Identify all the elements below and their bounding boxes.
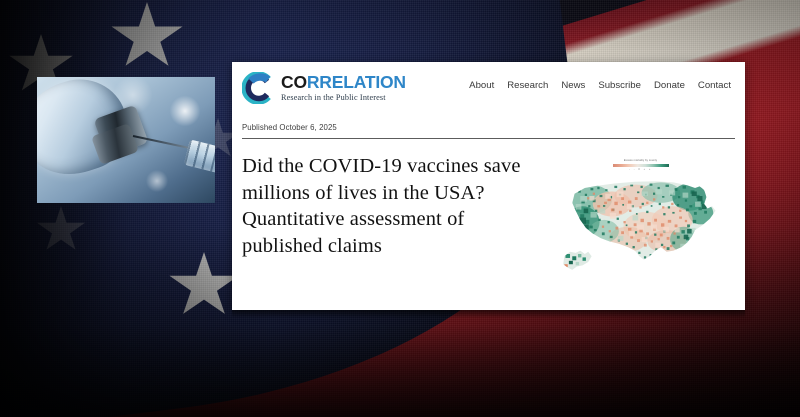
map-legend: Excess mortality by county - - 0 + + (604, 159, 678, 171)
us-county-choropleth-map (542, 171, 739, 279)
article-card: CORRELATION Research in the Public Inter… (232, 62, 745, 310)
article-headline: Did the COVID-19 vaccines save millions … (242, 153, 542, 260)
published-date: Published October 6, 2025 (242, 123, 337, 132)
nav-item-about[interactable]: About (469, 80, 494, 91)
nav-item-research[interactable]: Research (507, 80, 548, 91)
site-header: CORRELATION Research in the Public Inter… (232, 62, 745, 104)
map-legend-title: Excess mortality by county (604, 159, 678, 163)
site-name-block: CORRELATION Research in the Public Inter… (281, 74, 406, 103)
nav-item-contact[interactable]: Contact (698, 80, 731, 91)
wordmark-co: CO (281, 72, 307, 92)
site-tagline: Research in the Public Interest (281, 93, 406, 102)
vaccine-vial-photo (37, 77, 215, 203)
screenshot-stage: CORRELATION Research in the Public Inter… (0, 0, 800, 417)
site-logo[interactable]: CORRELATION Research in the Public Inter… (242, 72, 406, 104)
nav-item-news[interactable]: News (561, 80, 585, 91)
site-wordmark: CORRELATION (281, 74, 406, 92)
nav-item-subscribe[interactable]: Subscribe (598, 80, 641, 91)
wordmark-rrelation: RRELATION (307, 72, 406, 92)
published-date-row: Published October 6, 2025 (242, 117, 735, 139)
correlation-c-logo-icon (242, 72, 274, 104)
main-navigation: About Research News Subscribe Donate Con… (469, 80, 733, 91)
nav-item-donate[interactable]: Donate (654, 80, 685, 91)
article-body: Did the COVID-19 vaccines save millions … (232, 153, 745, 281)
article-figure[interactable]: Excess mortality by county - - 0 + + (542, 159, 739, 281)
